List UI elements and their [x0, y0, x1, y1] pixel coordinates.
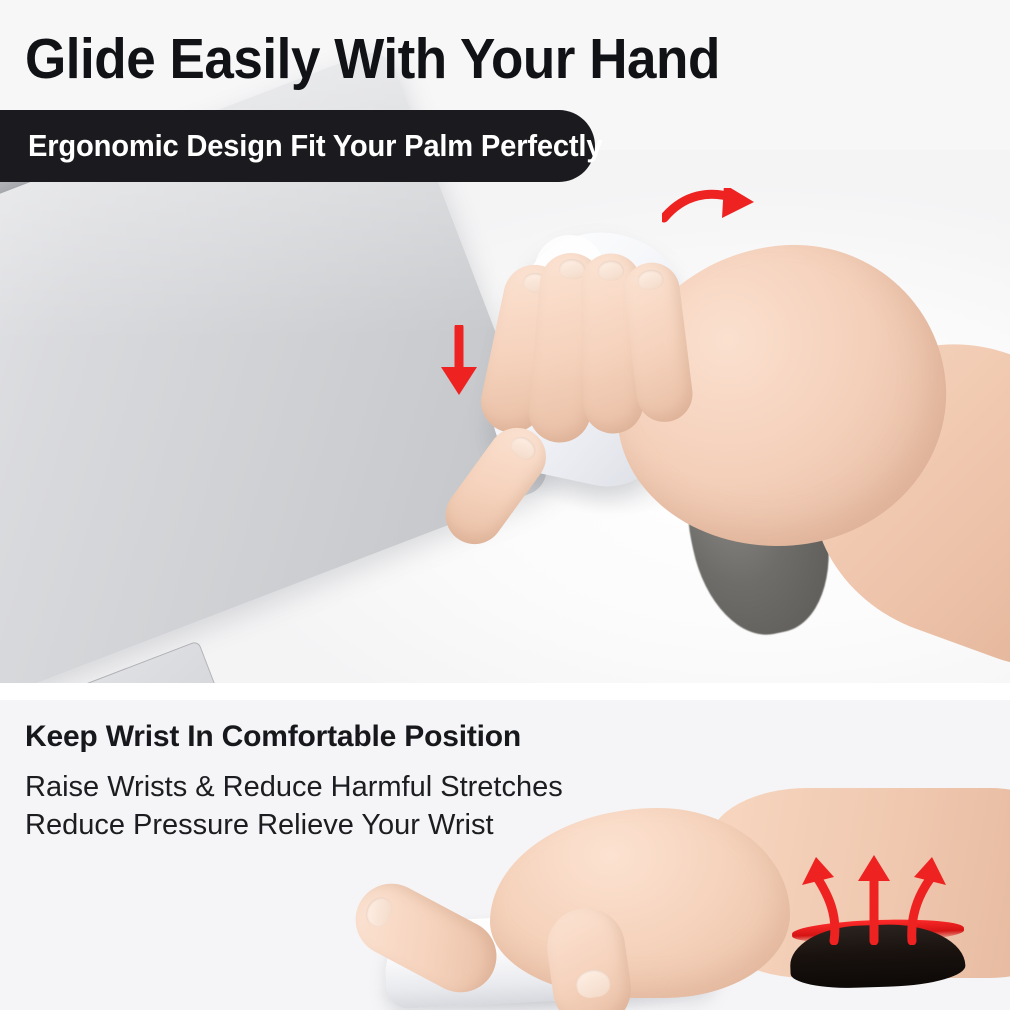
wrist-lift-arrows-icon: [800, 855, 950, 945]
top-product-photo: PgDn Backspace \ ] Enter ' Shift ? + PgU…: [0, 0, 1010, 683]
fingernail: [598, 260, 624, 280]
section-body: Raise Wrists & Reduce Harmful Stretches …: [25, 768, 563, 844]
glide-right-arrow-icon: [662, 188, 757, 234]
bottom-panel: Keep Wrist In Comfortable Position Raise…: [0, 700, 1010, 1010]
infographic-page: PgDn Backspace \ ] Enter ' Shift ? + PgU…: [0, 0, 1010, 1010]
top-panel: PgDn Backspace \ ] Enter ' Shift ? + PgU…: [0, 0, 1010, 683]
body-line-2: Reduce Pressure Relieve Your Wrist: [25, 806, 563, 844]
page-title: Glide Easily With Your Hand: [25, 30, 806, 90]
fingernail: [361, 893, 396, 931]
fingernail: [507, 432, 540, 463]
fingernail: [636, 268, 664, 291]
fingernail: [574, 967, 612, 999]
ergonomic-banner: Ergonomic Design Fit Your Palm Perfectly: [0, 110, 595, 182]
section-divider: [0, 683, 1010, 700]
glide-down-arrow-icon: [436, 325, 482, 397]
section-heading: Keep Wrist In Comfortable Position: [25, 720, 521, 754]
banner-label: Ergonomic Design Fit Your Palm Perfectly: [28, 128, 602, 164]
body-line-1: Raise Wrists & Reduce Harmful Stretches: [25, 768, 563, 806]
hand-top: [544, 199, 1010, 683]
